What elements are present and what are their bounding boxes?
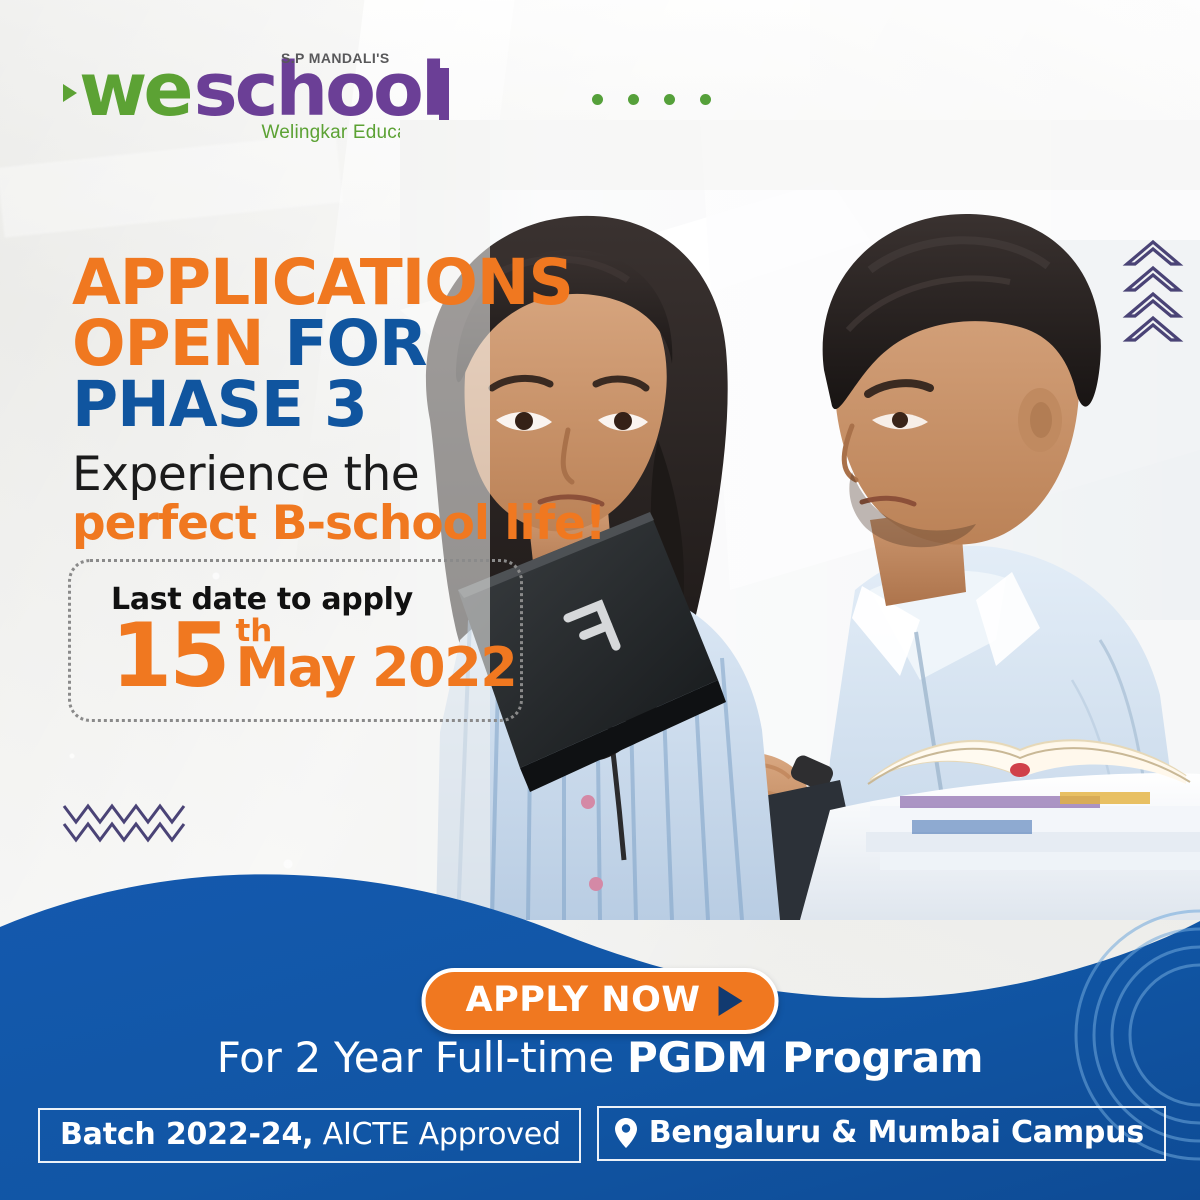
subhead-bold: perfect B-school life! — [72, 499, 605, 548]
logo-we-text: we — [79, 62, 190, 120]
logo-mandali-text: S.P MANDALI'S — [281, 50, 390, 66]
apply-now-button[interactable]: APPLY NOW — [422, 968, 779, 1034]
logo-wordmark: we school S.P MANDALI'S — [63, 62, 443, 120]
zigzag-icon — [62, 798, 186, 849]
deadline-month-stack: th May 2022 — [235, 619, 516, 691]
apply-now-label: APPLY NOW — [466, 983, 701, 1018]
logo-triangle-icon — [63, 84, 77, 102]
dot — [664, 94, 675, 105]
play-triangle-icon — [718, 986, 742, 1016]
deadline-date: 15 th May 2022 — [111, 618, 520, 694]
weschool-logo: we school S.P MANDALI'S Welingkar Educat… — [63, 62, 443, 144]
dot — [700, 94, 711, 105]
batch-rest-text: AICTE Approved — [313, 1117, 561, 1152]
deadline-card: Last date to apply 15 th May 2022 — [68, 559, 523, 722]
deadline-month-year: May 2022 — [235, 644, 516, 692]
map-pin-icon — [615, 1118, 637, 1148]
chevron-up-icon — [1122, 236, 1184, 342]
headline-line-3: PHASE 3 — [72, 374, 605, 435]
headline-block: APPLICATIONS OPEN FOR PHASE 3 Experience… — [72, 252, 605, 549]
subhead-plain: Experience the — [72, 451, 605, 499]
program-line: For 2 Year Full-time PGDM Program — [0, 1033, 1200, 1082]
program-prefix: For 2 Year Full-time — [217, 1033, 627, 1082]
headline-line-1: APPLICATIONS — [72, 252, 605, 313]
dot — [628, 94, 639, 105]
dot — [592, 94, 603, 105]
program-emphasis: PGDM Program — [627, 1033, 983, 1082]
campus-label: Bengaluru & Mumbai Campus — [649, 1115, 1144, 1150]
headline-line-2: OPEN FOR — [72, 313, 605, 374]
headline-phase: PHASE 3 — [72, 368, 367, 441]
batch-badge: Batch 2022-24, AICTE Approved — [38, 1108, 581, 1163]
poster-canvas: we school S.P MANDALI'S Welingkar Educat… — [0, 0, 1200, 1200]
batch-bold-text: Batch 2022-24, — [60, 1117, 313, 1152]
deadline-day: 15 — [111, 618, 227, 694]
logo-school-text: school — [194, 62, 444, 120]
logo-purple-bar — [439, 68, 449, 126]
campus-badge: Bengaluru & Mumbai Campus — [597, 1106, 1166, 1161]
